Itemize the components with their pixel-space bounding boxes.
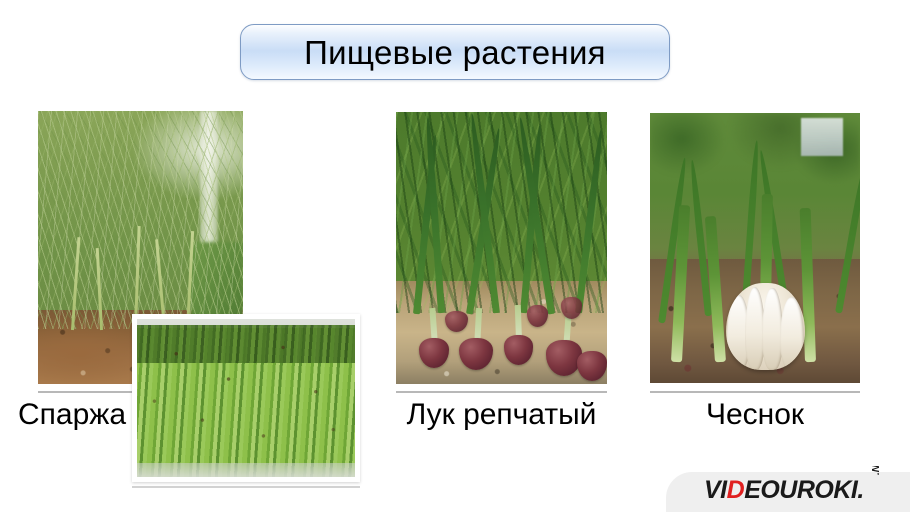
page-title: Пищевые растения bbox=[304, 36, 606, 69]
asparagus-spears-photo bbox=[132, 314, 360, 482]
onion-scene bbox=[396, 112, 607, 384]
spears-tray-edge bbox=[137, 463, 355, 477]
watermark-brand: VIDEOUROKI. bbox=[704, 476, 864, 505]
slide-canvas: Пищевые растения bbox=[0, 0, 910, 512]
slide-title-box: Пищевые растения bbox=[240, 24, 670, 80]
garlic-photo bbox=[650, 113, 860, 383]
watermark-brand-suffix: EOUROKI. bbox=[744, 476, 864, 504]
caption-garlic: Чеснок bbox=[650, 394, 860, 436]
onion-bulb bbox=[561, 297, 582, 319]
caption-asparagus: Спаржа bbox=[18, 394, 148, 436]
asparagus-foliage bbox=[38, 111, 243, 329]
watermark: VIDEOUROKI. .NET bbox=[660, 466, 910, 512]
asparagus-spears-scene bbox=[137, 319, 355, 477]
garlic-background-window bbox=[801, 118, 843, 156]
asparagus-spears-photo-underline bbox=[132, 486, 360, 488]
caption-onion: Лук репчатый bbox=[396, 394, 607, 436]
onion-photo-underline bbox=[396, 391, 607, 393]
garlic-bulb bbox=[726, 283, 806, 369]
onion-photo bbox=[396, 112, 607, 384]
watermark-brand-prefix: VI bbox=[704, 476, 727, 504]
watermark-brand-accent: D bbox=[727, 476, 745, 504]
garlic-photo-underline bbox=[650, 391, 860, 393]
spears-seasoning bbox=[137, 319, 355, 477]
garlic-clove bbox=[780, 297, 804, 370]
garlic-scene bbox=[650, 113, 860, 383]
watermark-domain: .NET bbox=[871, 466, 882, 475]
